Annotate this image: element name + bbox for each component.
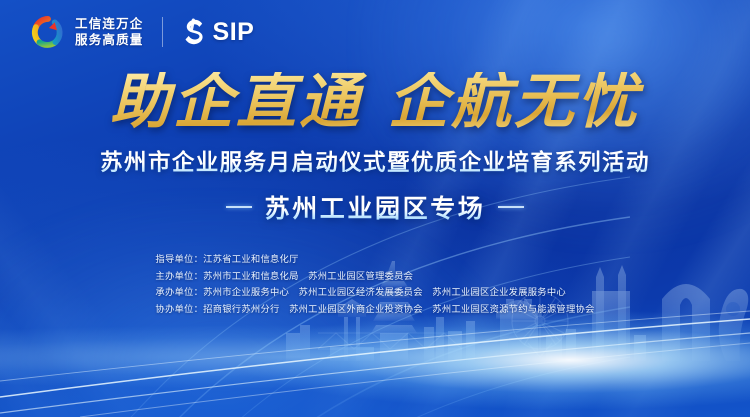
organizer-row: 承办单位：苏州市企业服务中心 苏州工业园区经济发展委员会 苏州工业园区企业发展服… — [155, 284, 594, 301]
organizer-row: 主办单位：苏州市工业和信息化局 苏州工业园区管理委员会 — [155, 268, 594, 285]
venue-dash-left — [226, 206, 252, 208]
venue-row: 苏州工业园区专场 — [0, 189, 750, 225]
organizer-label: 协办单位： — [155, 301, 203, 318]
organizers-block: 指导单位：江苏省工业和信息化厅 主办单位：苏州市工业和信息化局 苏州工业园区管理… — [155, 251, 594, 317]
headline-left: 助企直通 — [110, 67, 362, 137]
venue-label: 苏州工业园区专场 — [265, 189, 486, 225]
organizer-value: 苏州市企业服务中心 苏州工业园区经济发展委员会 苏州工业园区企业发展服务中心 — [203, 287, 566, 297]
organizer-row: 指导单位：江苏省工业和信息化厅 — [155, 251, 594, 268]
program-logo-line2: 服务高质量 — [75, 33, 144, 47]
sip-s-icon — [181, 17, 208, 47]
organizer-row: 协办单位：招商银行苏州分行 苏州工业园区外商企业投资协会 苏州工业园区资源节约与… — [155, 301, 594, 318]
organizer-value: 招商银行苏州分行 苏州工业园区外商企业投资协会 苏州工业园区资源节约与能源管理协… — [203, 304, 594, 314]
swirl-ring-icon — [30, 14, 66, 50]
organizer-label: 承办单位： — [155, 284, 203, 301]
logo-divider — [162, 17, 163, 47]
sip-logo: SIP — [181, 17, 255, 47]
organizer-label: 指导单位： — [155, 251, 203, 268]
banner-header: 工信连万企 服务高质量 SIP — [30, 14, 254, 50]
sip-label: SIP — [213, 18, 255, 47]
program-logo: 工信连万企 服务高质量 — [30, 14, 144, 50]
organizer-value: 江苏省工业和信息化厅 — [203, 254, 298, 264]
program-logo-text: 工信连万企 服务高质量 — [75, 17, 144, 47]
organizer-label: 主办单位： — [155, 268, 203, 285]
headline: 助企直通企航无忧 — [0, 72, 750, 132]
headline-right: 企航无忧 — [388, 67, 640, 137]
program-logo-line1: 工信连万企 — [75, 17, 144, 31]
venue-dash-right — [498, 206, 524, 208]
subtitle: 苏州市企业服务月启动仪式暨优质企业培育系列活动 — [0, 145, 750, 177]
organizer-value: 苏州市工业和信息化局 苏州工业园区管理委员会 — [203, 271, 413, 281]
event-banner: 工信连万企 服务高质量 SIP 助企直通企航无忧 苏州市企业服务月启动仪式暨优质… — [0, 0, 750, 417]
